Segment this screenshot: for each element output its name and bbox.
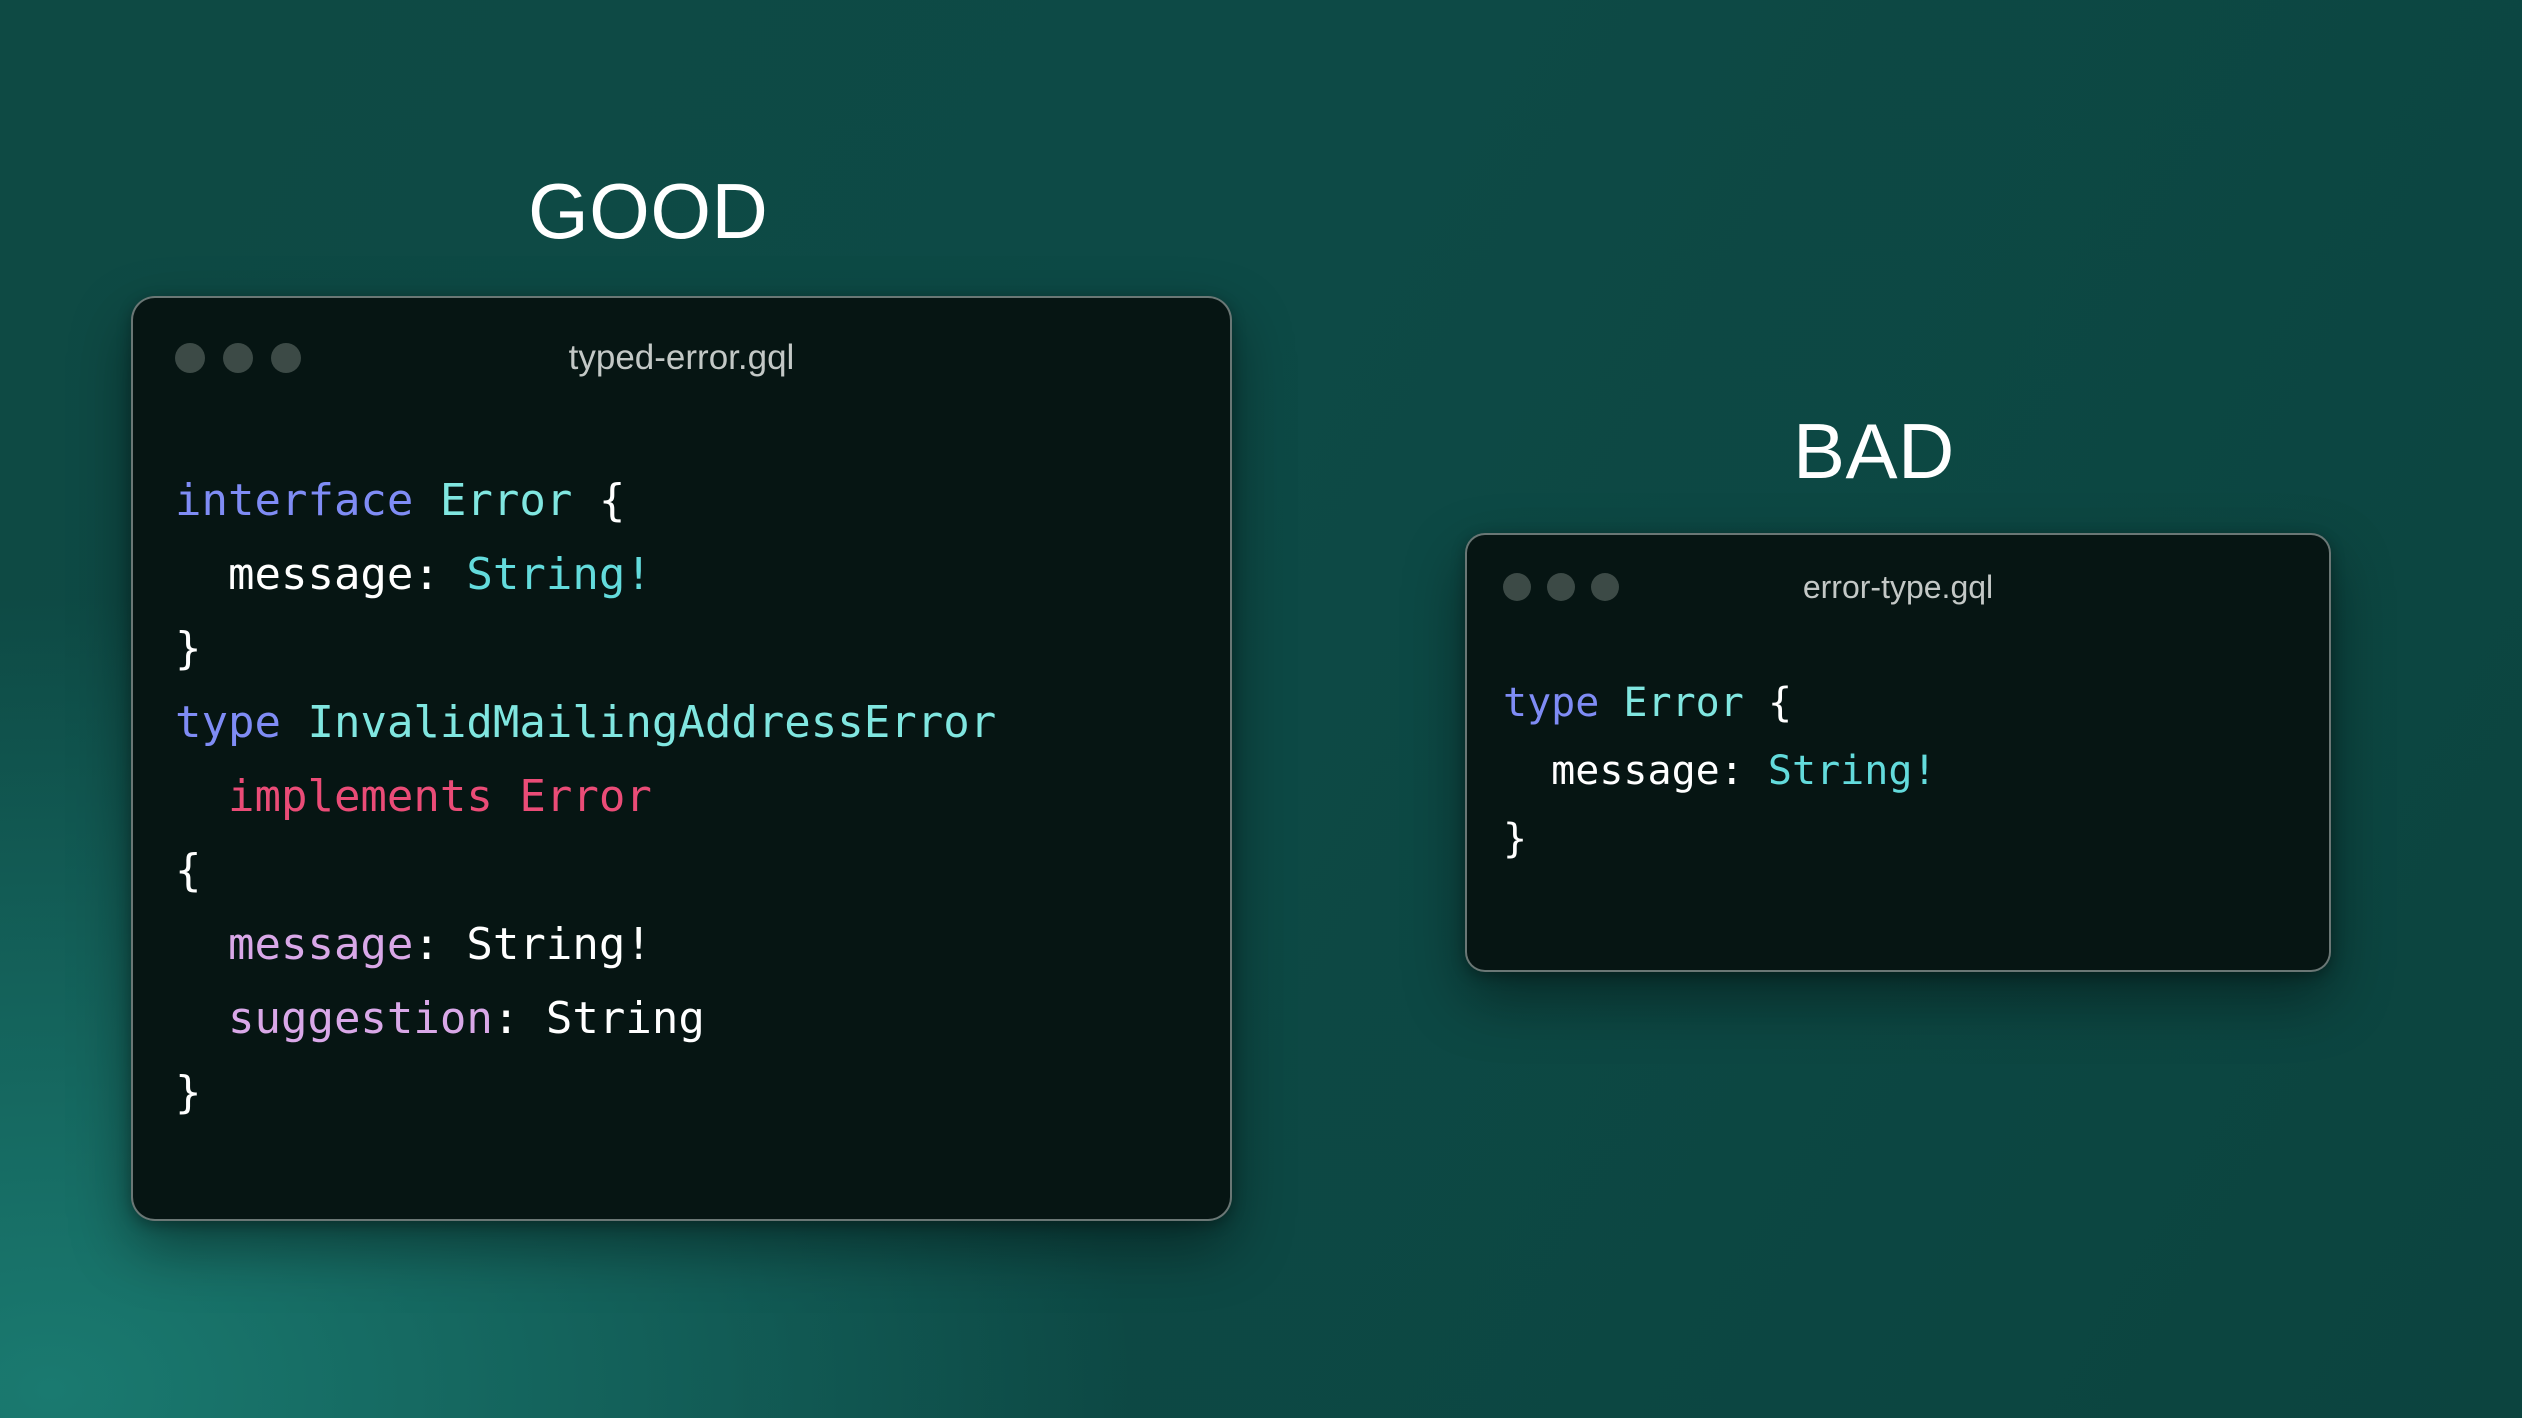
- traffic-light-close-icon[interactable]: [1503, 573, 1531, 601]
- bad-section-heading: BAD: [1793, 412, 1955, 490]
- code-token: [175, 993, 228, 1044]
- code-line: interface Error {: [175, 464, 1188, 538]
- code-line: message: String!: [175, 908, 1188, 982]
- code-token: String!: [1768, 748, 1937, 794]
- code-token: [281, 697, 308, 748]
- slide-canvas: GOOD typed-error.gql interface Error { m…: [0, 0, 2522, 1418]
- code-token: :: [413, 919, 466, 970]
- traffic-light-close-icon[interactable]: [175, 343, 205, 373]
- code-token: [413, 475, 440, 526]
- code-token: type: [175, 697, 281, 748]
- code-token: [1744, 680, 1768, 726]
- traffic-light-maximize-icon[interactable]: [271, 343, 301, 373]
- code-token: [1599, 680, 1623, 726]
- code-line: {: [175, 834, 1188, 908]
- code-token: implements Error: [228, 771, 652, 822]
- code-token: }: [1503, 816, 1527, 862]
- code-line: }: [175, 612, 1188, 686]
- code-line: type InvalidMailingAddressError: [175, 686, 1188, 760]
- code-token: [1503, 748, 1551, 794]
- titlebar-bad: error-type.gql: [1467, 535, 2329, 639]
- code-token: Error: [440, 475, 572, 526]
- code-line: implements Error: [175, 760, 1188, 834]
- code-line: suggestion: String: [175, 982, 1188, 1056]
- code-token: {: [1768, 680, 1792, 726]
- code-token: }: [175, 623, 202, 674]
- code-token: :: [1720, 748, 1768, 794]
- good-section-heading: GOOD: [528, 172, 768, 250]
- code-line: }: [175, 1056, 1188, 1130]
- window-controls-good: [175, 343, 301, 373]
- code-token: }: [175, 1067, 202, 1118]
- code-token: [175, 771, 228, 822]
- code-token: [175, 549, 228, 600]
- code-content-bad: type Error { message: String! }: [1467, 639, 2329, 873]
- code-token: InvalidMailingAddressError: [307, 697, 996, 748]
- code-token: suggestion: [228, 993, 493, 1044]
- code-line: }: [1503, 805, 2293, 873]
- traffic-light-minimize-icon[interactable]: [1547, 573, 1575, 601]
- code-token: interface: [175, 475, 413, 526]
- code-token: String!: [466, 549, 651, 600]
- code-token: Error: [1623, 680, 1743, 726]
- traffic-light-maximize-icon[interactable]: [1591, 573, 1619, 601]
- code-token: message: [1551, 748, 1720, 794]
- code-content-good: interface Error { message: String! } typ…: [133, 418, 1230, 1130]
- code-token: {: [599, 475, 626, 526]
- code-token: message: [228, 549, 413, 600]
- code-token: String!: [466, 919, 651, 970]
- code-token: type: [1503, 680, 1599, 726]
- code-window-bad: error-type.gql type Error { message: Str…: [1465, 533, 2331, 972]
- code-token: :: [413, 549, 466, 600]
- code-token: String: [546, 993, 705, 1044]
- code-window-good: typed-error.gql interface Error { messag…: [131, 296, 1232, 1221]
- code-token: message: [228, 919, 413, 970]
- window-controls-bad: [1503, 573, 1619, 601]
- code-line: type Error {: [1503, 669, 2293, 737]
- code-line: message: String!: [1503, 737, 2293, 805]
- code-token: [175, 919, 228, 970]
- code-token: [572, 475, 599, 526]
- titlebar-good: typed-error.gql: [133, 298, 1230, 418]
- code-line: message: String!: [175, 538, 1188, 612]
- traffic-light-minimize-icon[interactable]: [223, 343, 253, 373]
- code-token: :: [493, 993, 546, 1044]
- code-token: {: [175, 845, 202, 896]
